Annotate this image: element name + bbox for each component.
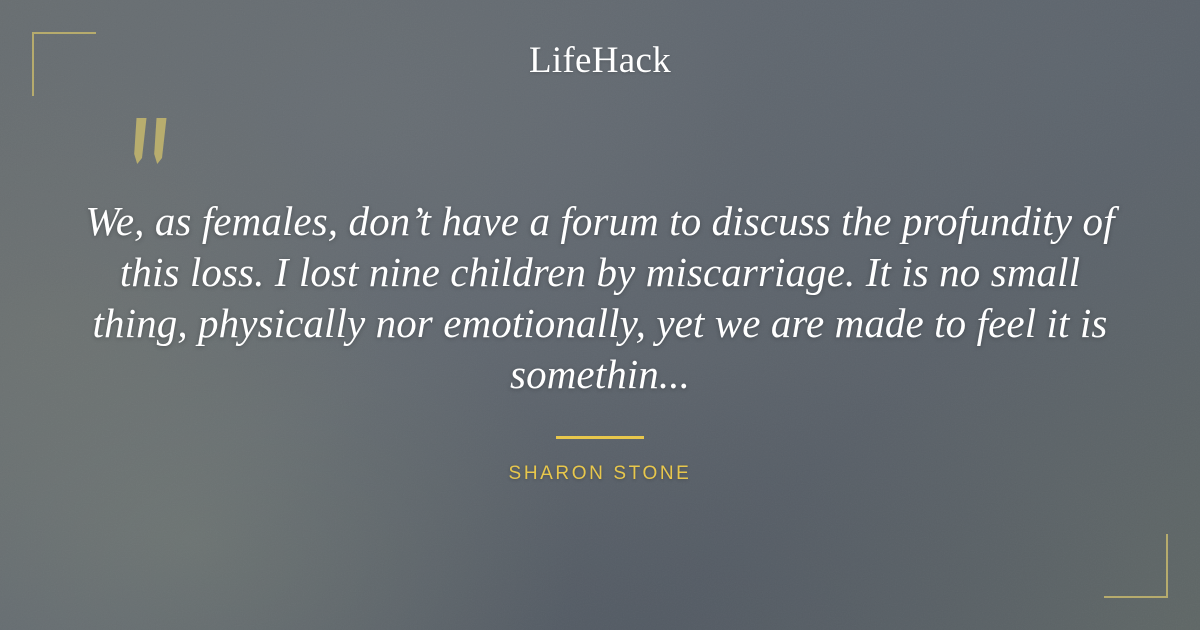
quote-mark-icon — [132, 118, 174, 164]
quote-text: We, as females, don’t have a forum to di… — [80, 196, 1120, 400]
brand-logo: LifeHack — [0, 42, 1200, 79]
quote-author: SHARON STONE — [0, 463, 1200, 485]
corner-bracket-bottom-right-icon — [1104, 534, 1168, 598]
divider-rule — [556, 436, 644, 439]
quote-block: We, as females, don’t have a forum to di… — [80, 196, 1120, 400]
quote-card: LifeHack We, as females, don’t have a fo… — [0, 0, 1200, 630]
